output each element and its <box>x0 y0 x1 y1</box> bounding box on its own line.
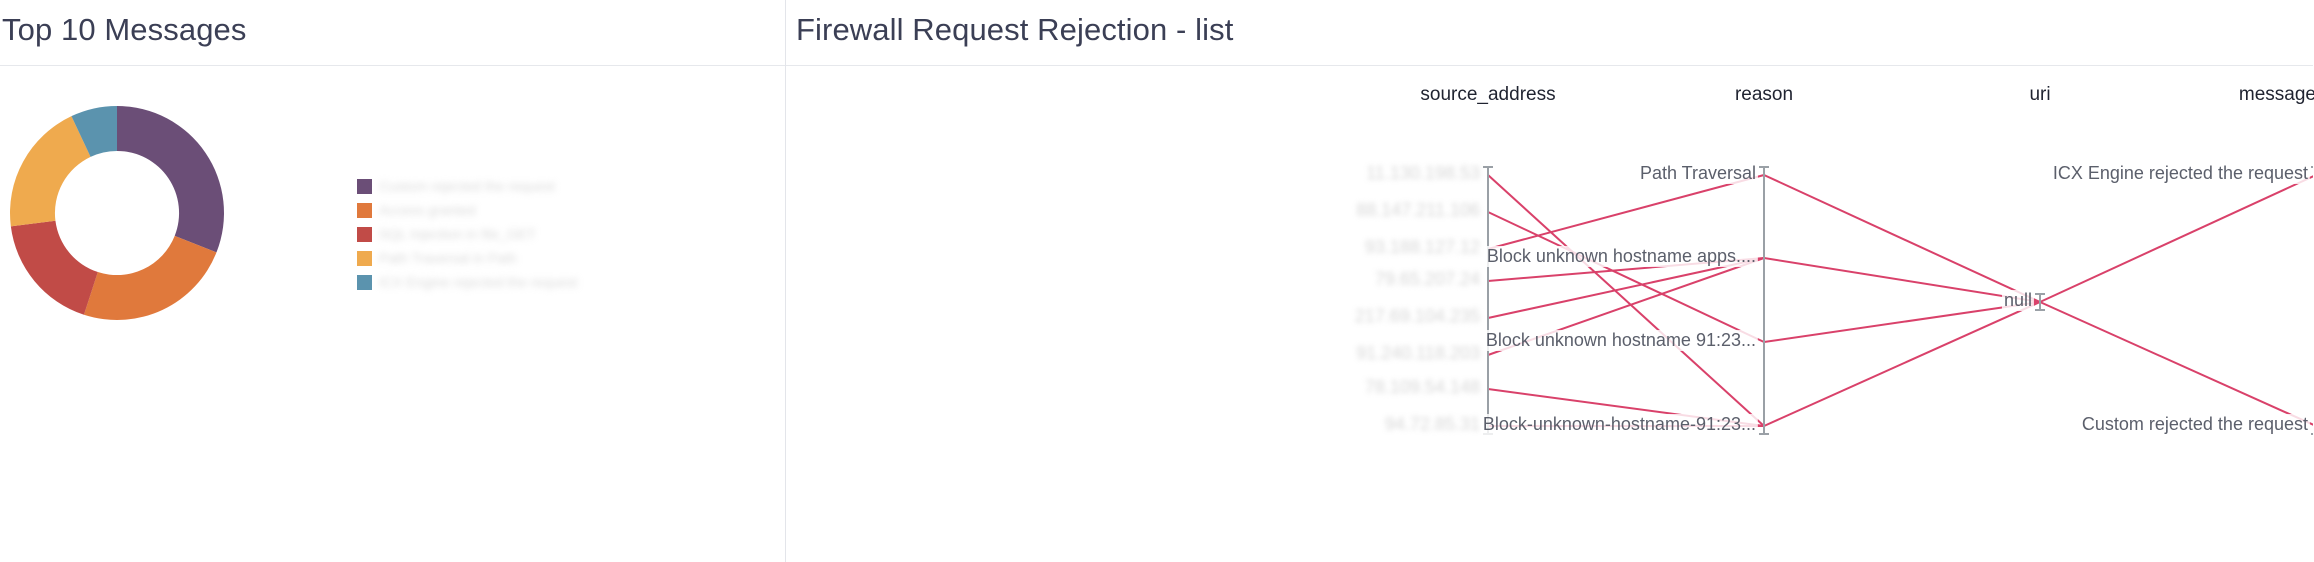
legend-swatch-icon <box>357 203 372 218</box>
donut-slice[interactable] <box>10 116 91 226</box>
link-line[interactable] <box>1764 302 2040 426</box>
link-line[interactable] <box>1764 258 2040 302</box>
node-label[interactable]: 217.69.104.235 <box>1353 306 1482 327</box>
legend-item[interactable]: Access granted <box>357 200 657 220</box>
node-label[interactable]: Block-unknown-hostname-91:23... <box>1481 414 1758 435</box>
donut-slice[interactable] <box>84 236 217 320</box>
legend-item[interactable]: Custom rejected the request <box>357 176 657 196</box>
node-label[interactable]: 78.109.54.148 <box>1363 377 1482 398</box>
firewall-panel-body: source_addressreasonurimessage 11.130.19… <box>786 66 2313 562</box>
donut-chart-svg <box>8 104 226 322</box>
node-label[interactable]: null <box>2002 290 2034 311</box>
axis-layer <box>1483 167 2313 434</box>
axis-header-reason[interactable]: reason <box>1735 84 1793 106</box>
link-line[interactable] <box>2040 302 2313 426</box>
link-line[interactable] <box>2040 175 2313 302</box>
legend-item-label: SQL Injection in file_GET <box>379 226 536 242</box>
legend-swatch-icon <box>357 227 372 242</box>
legend-item[interactable]: ICX Engine rejected the request <box>357 272 657 292</box>
donut-slice[interactable] <box>117 106 224 252</box>
link-line[interactable] <box>1764 302 2040 342</box>
legend-swatch-icon <box>357 275 372 290</box>
node-label[interactable]: 93.188.127.12 <box>1363 237 1482 258</box>
legend-swatch-icon <box>357 251 372 266</box>
node-label[interactable]: 91.240.118.203 <box>1354 343 1482 364</box>
parallel-coordinates-chart[interactable]: source_addressreasonurimessage 11.130.19… <box>786 66 2313 562</box>
firewall-panel-header: Firewall Request Rejection - list <box>786 0 2313 66</box>
node-label[interactable]: 79.65.207.24 <box>1373 269 1482 290</box>
axis-header-uri[interactable]: uri <box>2029 84 2050 106</box>
link-line[interactable] <box>1764 175 2040 302</box>
top-messages-panel: Top 10 Messages Custom rejected the requ… <box>0 0 786 562</box>
legend-item-label: Access granted <box>379 202 476 218</box>
donut-legend: Custom rejected the requestAccess grante… <box>357 176 657 296</box>
node-label[interactable]: ICX Engine rejected the request <box>2051 163 2310 184</box>
legend-item[interactable]: Path Traversal in Path <box>357 248 657 268</box>
link-layer <box>1488 175 2313 426</box>
legend-item-label: ICX Engine rejected the request <box>379 274 577 290</box>
axis-header-source_address[interactable]: source_address <box>1420 84 1555 106</box>
node-label[interactable]: 88.147.211.106 <box>1354 200 1482 221</box>
axis-header-message[interactable]: message <box>2239 84 2314 106</box>
legend-item[interactable]: SQL Injection in file_GET <box>357 224 657 244</box>
node-label[interactable]: Path Traversal <box>1638 163 1758 184</box>
firewall-request-rejection-panel: Firewall Request Rejection - list source… <box>786 0 2313 562</box>
node-label[interactable]: Block unknown hostname apps.... <box>1485 246 1758 267</box>
panel-title: Firewall Request Rejection - list <box>796 12 1233 48</box>
node-label[interactable]: 94.72.85.31 <box>1383 414 1482 435</box>
parallel-coordinates-svg <box>786 66 2313 562</box>
top-messages-body: Custom rejected the requestAccess grante… <box>0 66 785 562</box>
node-label[interactable]: Custom rejected the request <box>2080 414 2310 435</box>
dashboard-root: Top 10 Messages Custom rejected the requ… <box>0 0 2314 562</box>
legend-item-label: Path Traversal in Path <box>379 250 517 266</box>
donut-slice[interactable] <box>11 221 98 315</box>
page-title: Top 10 Messages <box>2 12 246 48</box>
node-label[interactable]: Block unknown hostname 91:23... <box>1484 330 1758 351</box>
node-label[interactable]: 11.130.198.53 <box>1364 163 1482 184</box>
donut-chart[interactable] <box>8 104 226 322</box>
legend-item-label: Custom rejected the request <box>379 178 555 194</box>
top-messages-header: Top 10 Messages <box>0 0 785 66</box>
legend-swatch-icon <box>357 179 372 194</box>
link-line[interactable] <box>1488 258 1764 318</box>
